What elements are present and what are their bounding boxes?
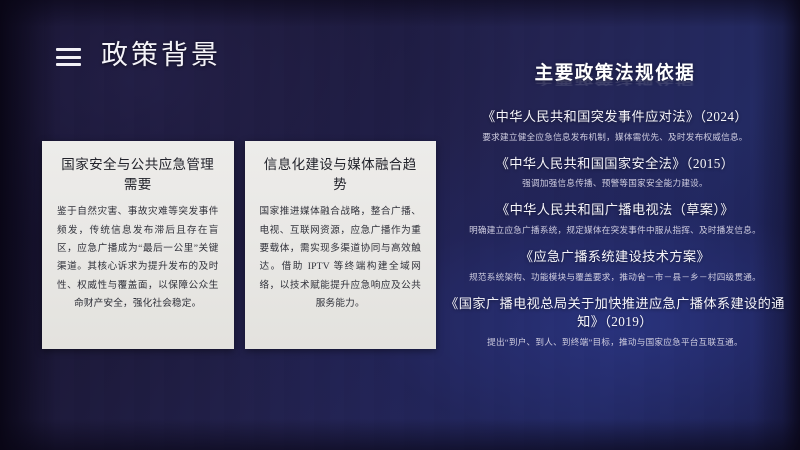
policy-panel: 主要政策法规依据 主要政策法规依据 《中华人民共和国突发事件应对法》（2024）… [438, 63, 792, 349]
policy-list-item: 《中华人民共和国国家安全法》（2015） 强调加强信息传播、预警等国家安全能力建… [438, 155, 792, 191]
policy-name: 《应急广播系统建设技术方案》 [438, 248, 792, 267]
policy-description: 强调加强信息传播、预警等国家安全能力建设。 [438, 177, 792, 190]
policy-description: 明确建立应急广播系统，规定媒体在突发事件中服从指挥、及时播发信息。 [438, 224, 792, 237]
hamburger-bar [56, 48, 81, 51]
slide-header: 政策背景 [56, 42, 221, 69]
info-card: 国家安全与公共应急管理需要 鉴于自然灾害、事故灾难等突发事件频发，传统信息发布滞… [42, 141, 234, 349]
policy-panel-heading: 主要政策法规依据 [438, 63, 792, 85]
info-card-title: 国家安全与公共应急管理需要 [54, 155, 222, 194]
hamburger-icon[interactable] [56, 45, 81, 66]
policy-name: 《中华人民共和国国家安全法》（2015） [438, 155, 792, 174]
policy-name: 《中华人民共和国突发事件应对法》（2024） [438, 108, 792, 127]
policy-list-item: 《中华人民共和国突发事件应对法》（2024） 要求建立健全应急信息发布机制，媒体… [438, 108, 792, 144]
info-card-body: 国家推进媒体融合战略，整合广播、电视、互联网资源，应急广播作为重要载体，需实现多… [257, 203, 425, 313]
policy-list-item: 《国家广播电视总局关于加快推进应急广播体系建设的通知》（2019） 提出“到户、… [438, 295, 792, 349]
info-card-body: 鉴于自然灾害、事故灾难等突发事件频发，传统信息发布滞后且存在盲区，应急广播成为“… [54, 203, 222, 313]
info-card-group: 国家安全与公共应急管理需要 鉴于自然灾害、事故灾难等突发事件频发，传统信息发布滞… [42, 141, 436, 349]
hamburger-bar [56, 63, 81, 66]
policy-name: 《国家广播电视总局关于加快推进应急广播体系建设的通知》（2019） [438, 295, 792, 332]
hamburger-bar [56, 56, 81, 59]
info-card: 信息化建设与媒体融合趋势 国家推进媒体融合战略，整合广播、电视、互联网资源，应急… [245, 141, 437, 349]
page-title: 政策背景 [101, 42, 221, 69]
policy-list: 《中华人民共和国突发事件应对法》（2024） 要求建立健全应急信息发布机制，媒体… [438, 108, 792, 349]
policy-description: 提出“到户、到人、到终端”目标，推动与国家应急平台互联互通。 [438, 336, 792, 349]
policy-description: 规范系统架构、功能模块与覆盖要求，推动省－市－县－乡－村四级贯通。 [438, 271, 792, 284]
policy-description: 要求建立健全应急信息发布机制，媒体需优先、及时发布权威信息。 [438, 131, 792, 144]
slide-canvas: 政策背景 国家安全与公共应急管理需要 鉴于自然灾害、事故灾难等突发事件频发，传统… [0, 0, 800, 450]
policy-list-item: 《中华人民共和国广播电视法（草案）》 明确建立应急广播系统，规定媒体在突发事件中… [438, 201, 792, 237]
policy-list-item: 《应急广播系统建设技术方案》 规范系统架构、功能模块与覆盖要求，推动省－市－县－… [438, 248, 792, 284]
policy-panel-heading-wrap: 主要政策法规依据 主要政策法规依据 [438, 63, 792, 107]
policy-name: 《中华人民共和国广播电视法（草案）》 [438, 201, 792, 220]
info-card-title: 信息化建设与媒体融合趋势 [257, 155, 425, 194]
